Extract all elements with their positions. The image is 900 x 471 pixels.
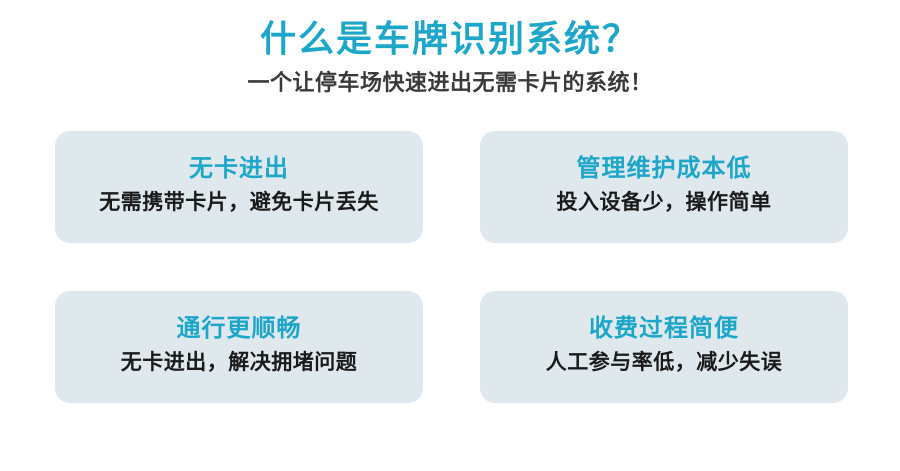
feature-card-heading: 通行更顺畅 — [177, 313, 302, 345]
feature-card-cardless-entry: 无卡进出 无需携带卡片，避免卡片丢失 — [55, 131, 423, 243]
feature-card-simple-payment: 收费过程简便 人工参与率低，减少失误 — [480, 291, 848, 403]
feature-card-description: 投入设备少，操作简单 — [557, 189, 772, 217]
infographic-page: 什么是车牌识别系统？ 一个让停车场快速进出无需卡片的系统！ 无卡进出 无需携带卡… — [0, 0, 900, 471]
feature-card-smoother-traffic: 通行更顺畅 无卡进出，解决拥堵问题 — [55, 291, 423, 403]
header: 什么是车牌识别系统？ 一个让停车场快速进出无需卡片的系统！ — [0, 0, 900, 98]
feature-card-heading: 收费过程简便 — [589, 313, 739, 345]
feature-card-heading: 无卡进出 — [189, 153, 289, 185]
feature-card-grid: 无卡进出 无需携带卡片，避免卡片丢失 管理维护成本低 投入设备少，操作简单 通行… — [55, 131, 848, 403]
page-subtitle: 一个让停车场快速进出无需卡片的系统！ — [0, 62, 900, 98]
feature-card-description: 无卡进出，解决拥堵问题 — [121, 349, 358, 377]
feature-card-description: 人工参与率低，减少失误 — [546, 349, 783, 377]
feature-card-low-maintenance-cost: 管理维护成本低 投入设备少，操作简单 — [480, 131, 848, 243]
page-title: 什么是车牌识别系统？ — [0, 0, 900, 62]
feature-card-description: 无需携带卡片，避免卡片丢失 — [99, 189, 379, 217]
feature-card-heading: 管理维护成本低 — [577, 153, 752, 185]
